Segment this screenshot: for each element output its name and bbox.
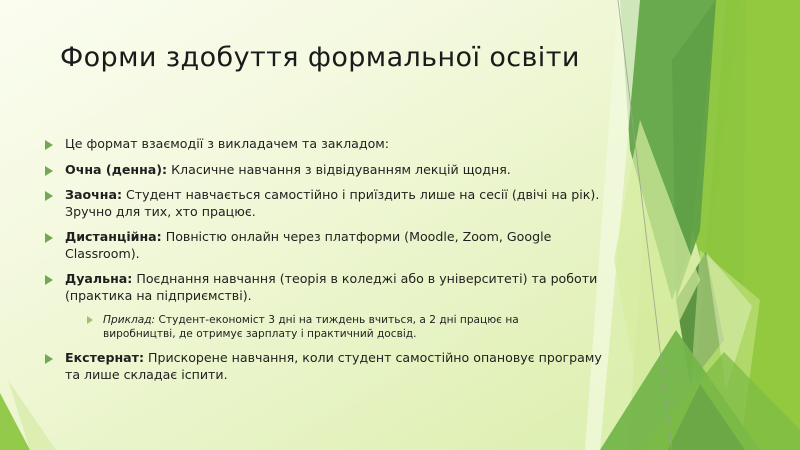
facet-dark-green-v [620,0,716,300]
facet-pale-panel-a [600,0,800,450]
facet-bright-wedge [663,0,740,280]
triangle-bullet-icon [44,233,54,244]
triangle-bullet-icon [44,166,54,177]
bullet-item-zaochna[interactable]: Заочна: Студент навчається самостійно і … [44,187,604,220]
triangle-bullet-icon [44,140,54,151]
bullet-text: Заочна: Студент навчається самостійно і … [65,187,604,220]
bullet-body: Класичне навчання з відвідуванням лекцій… [167,162,511,177]
bullet-item-dystantsiina[interactable]: Дистанційна: Повністю онлайн через платф… [44,229,604,262]
triangle-bullet-icon [44,354,54,365]
facet-bottom-sweep-2 [640,352,800,450]
facet-pale-panel-b [628,0,800,450]
facet-pale-highlight-4 [706,252,752,390]
bullet-lead: Дистанційна: [65,229,162,244]
bullet-item-eksternat[interactable]: Екстернат: Прискорене навчання, коли сту… [44,350,604,383]
bullet-item-example[interactable]: Приклад: Студент-економіст 3 дні на тижд… [86,313,604,341]
bullet-lead: Приклад: [103,314,155,326]
bullet-text: Дистанційна: Повністю онлайн через платф… [65,229,604,262]
bullet-text: Приклад: Студент-економіст 3 дні на тижд… [103,313,575,341]
facet-pale-highlight-2 [614,120,700,400]
facet-pale-highlight-3 [686,250,760,450]
bullet-text: Очна (денна): Класичне навчання з відвід… [65,162,511,179]
bullet-text: Дуальна: Поєднання навчання (теорія в ко… [65,271,604,304]
facet-dark-green-v-shade [672,0,716,300]
bullet-lead: Дуальна: [65,271,132,286]
bullet-text: Екстернат: Прискорене навчання, коли сту… [65,350,604,383]
bullet-item-ochna[interactable]: Очна (денна): Класичне навчання з відвід… [44,162,604,179]
facet-bottom-sweep [600,330,760,450]
bullet-body: Поєднання навчання (теорія в коледжі або… [65,271,597,303]
triangle-sub-bullet-icon [86,316,94,325]
facet-bottom-sweep-dark [668,384,745,450]
facet-dark-green-v-lower [676,252,724,384]
facet-bright-right-band [690,0,800,450]
bullet-lead: Заочна: [65,187,122,202]
bullet-item-dualna[interactable]: Дуальна: Поєднання навчання (теорія в ко… [44,271,604,304]
content-placeholder[interactable]: Це формат взаємодії з викладачем та закл… [44,136,604,383]
triangle-bullet-icon [44,275,54,286]
bullet-body: Це формат взаємодії з викладачем та закл… [65,136,389,151]
bullet-lead: Екстернат: [65,350,144,365]
wedge-bottom-left-pale [8,380,56,450]
triangle-bullet-icon [44,191,54,202]
facet-bright-right-band-2 [742,0,800,450]
bullet-lead: Очна (денна): [65,162,167,177]
bullet-body: Студент навчається самостійно і приїздит… [65,187,599,219]
bullet-item-intro[interactable]: Це формат взаємодії з викладачем та закл… [44,136,604,153]
title-placeholder[interactable]: Форми здобуття формальної освіти [60,28,600,88]
wedge-bottom-left [0,393,30,450]
page-title: Форми здобуття формальної освіти [60,42,580,73]
facet-hairline [618,0,672,450]
bullet-text: Це формат взаємодії з викладачем та закл… [65,136,389,153]
presentation-slide: Форми здобуття формальної освіти Це форм… [0,0,800,450]
bullet-body: Студент-економіст 3 дні на тиждень вчить… [103,314,519,340]
bullet-body: Прискорене навчання, коли студент самост… [65,350,602,382]
